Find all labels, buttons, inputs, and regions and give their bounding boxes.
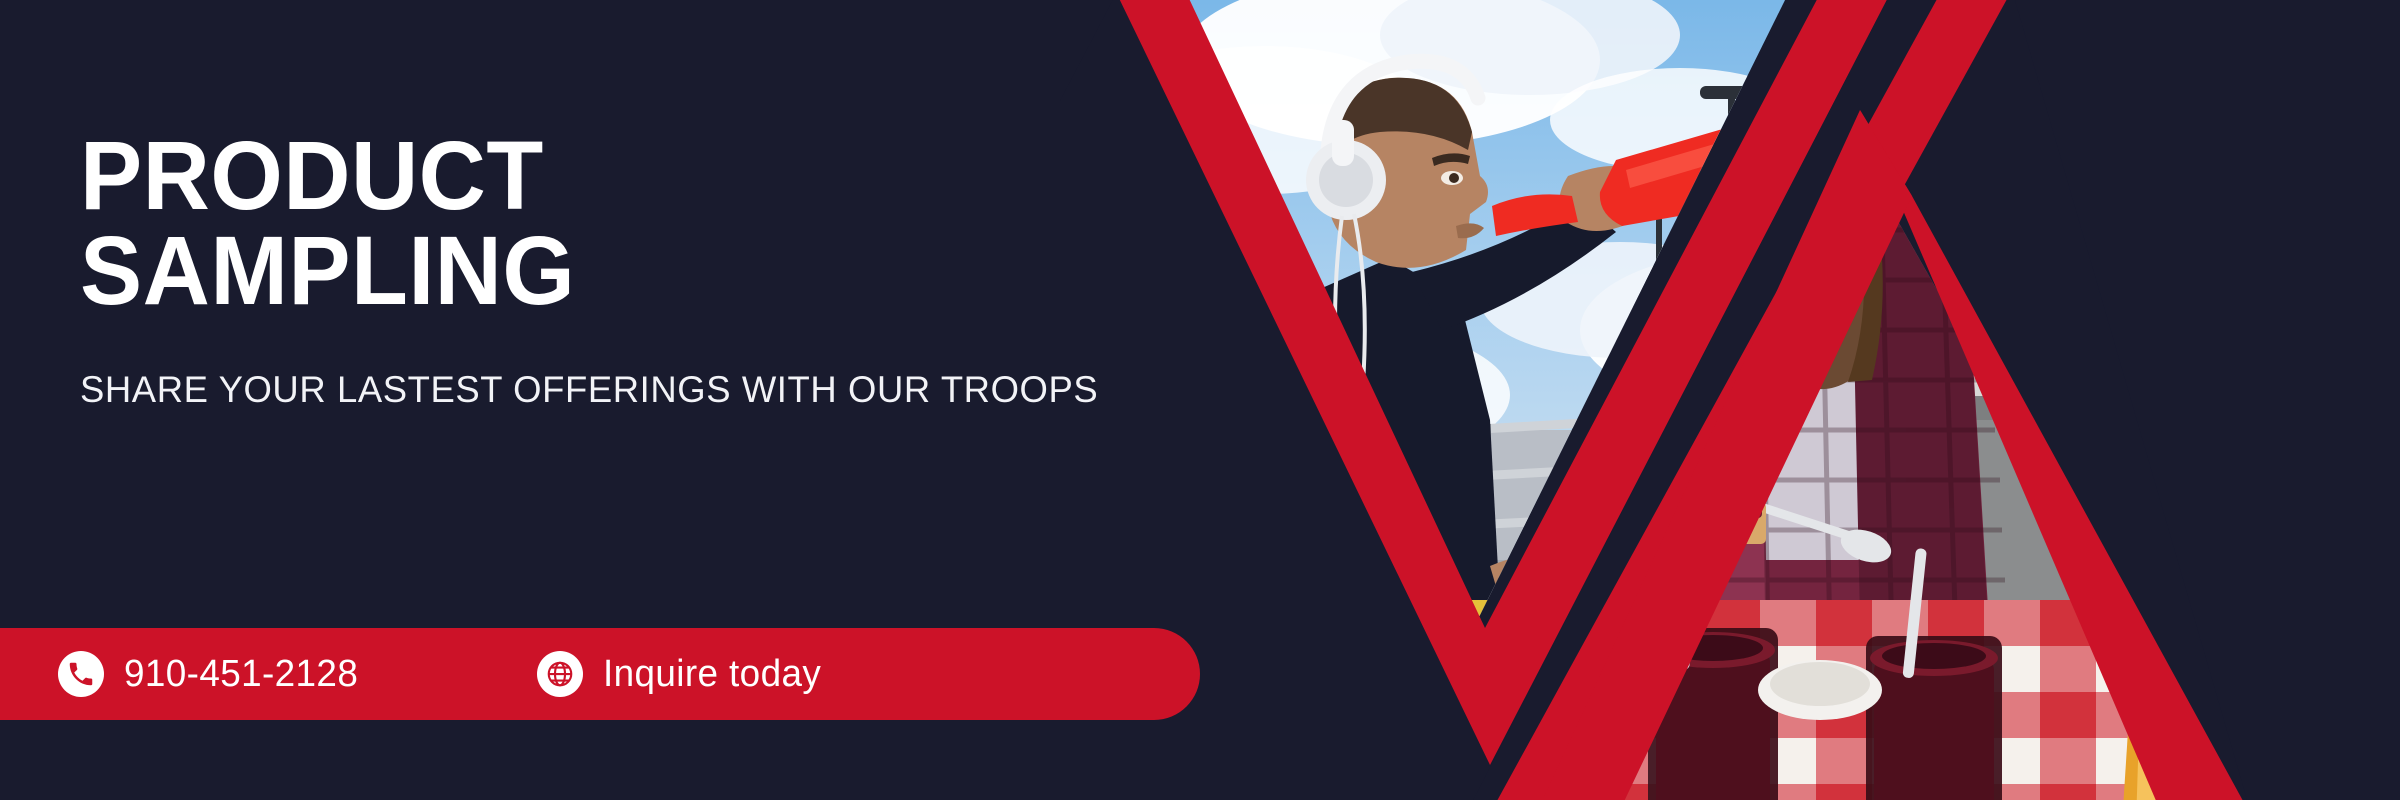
subtitle: SHARE YOUR LASTEST OFFERINGS WITH OUR TR…	[80, 318, 1095, 411]
contact-cta-bar: 910-451-2128 Inquire today	[0, 628, 1200, 720]
globe-icon	[537, 651, 583, 697]
phone-cta[interactable]: 910-451-2128	[58, 628, 365, 720]
phone-number-label: 910-451-2128	[124, 653, 358, 696]
banner-root: PRODUCT SAMPLING SHARE YOUR LASTEST OFFE…	[0, 0, 2400, 800]
page-title: PRODUCT SAMPLING	[80, 128, 1069, 318]
headline-block: PRODUCT SAMPLING SHARE YOUR LASTEST OFFE…	[80, 128, 1110, 411]
inquire-label: Inquire today	[603, 653, 821, 696]
phone-icon	[58, 651, 104, 697]
chevron-photo-graphic	[1060, 0, 2400, 800]
navy-left-plate	[1060, 0, 1118, 120]
inquire-cta[interactable]: Inquire today	[537, 628, 828, 720]
